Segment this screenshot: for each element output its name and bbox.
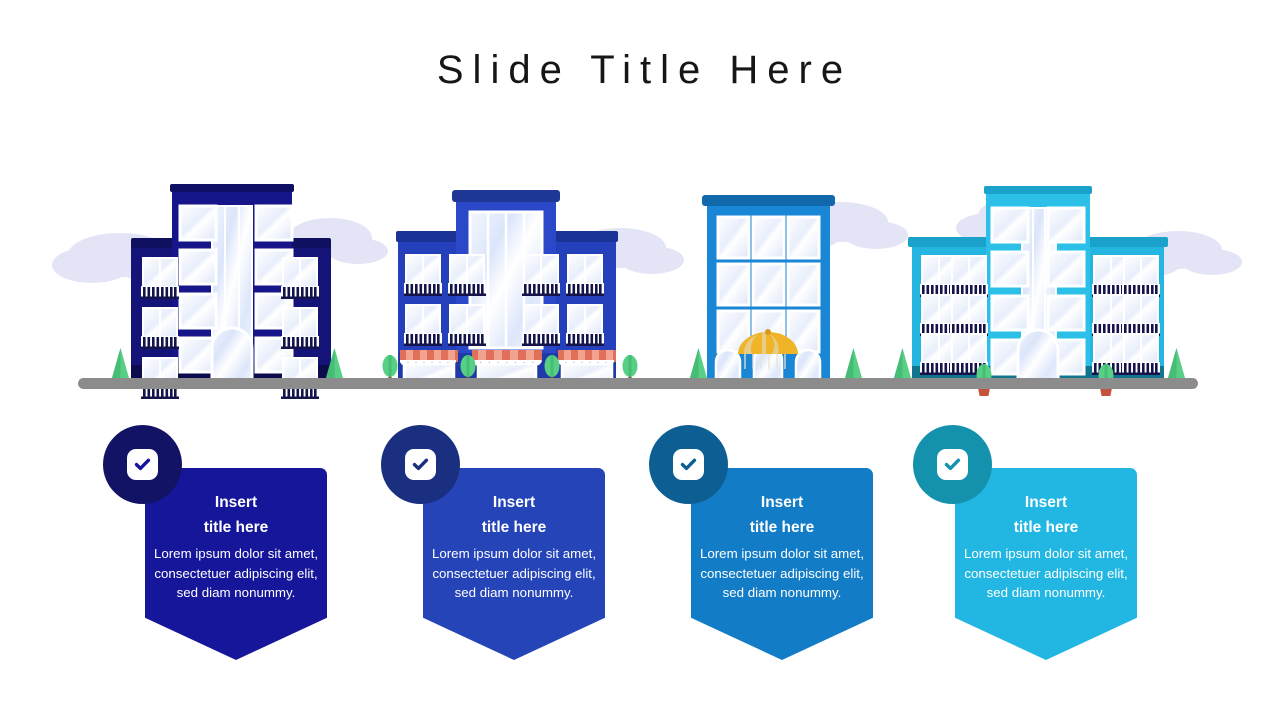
- page-title: Slide Title Here: [0, 46, 1280, 94]
- card-3-body: Lorem ipsum dolor sit amet, consectetuer…: [691, 544, 873, 603]
- card-1-body: Lorem ipsum dolor sit amet, consectetuer…: [145, 544, 327, 603]
- card-1-title: Insert title here: [145, 490, 327, 540]
- building-cyan: [894, 186, 1185, 396]
- check-circle-icon: [127, 449, 158, 480]
- card-4-badge[interactable]: [913, 425, 992, 504]
- building-royal-blue: [383, 190, 638, 387]
- card-3-badge[interactable]: [649, 425, 728, 504]
- card-1[interactable]: Insert title here Lorem ipsum dolor sit …: [98, 420, 366, 665]
- card-4-title: Insert title here: [955, 490, 1137, 540]
- city-illustration: [0, 150, 1280, 400]
- check-circle-icon: [937, 449, 968, 480]
- card-2[interactable]: Insert title here Lorem ipsum dolor sit …: [376, 420, 644, 665]
- check-circle-icon: [673, 449, 704, 480]
- card-2-title: Insert title here: [423, 490, 605, 540]
- card-4[interactable]: Insert title here Lorem ipsum dolor sit …: [908, 420, 1176, 665]
- card-2-badge[interactable]: [381, 425, 460, 504]
- cards-row: Insert title here Lorem ipsum dolor sit …: [0, 420, 1280, 670]
- building-navy: [112, 184, 343, 399]
- card-3[interactable]: Insert title here Lorem ipsum dolor sit …: [644, 420, 912, 665]
- ground-strip: [78, 378, 1198, 389]
- card-4-body: Lorem ipsum dolor sit amet, consectetuer…: [955, 544, 1137, 603]
- card-3-title: Insert title here: [691, 490, 873, 540]
- check-circle-icon: [405, 449, 436, 480]
- card-1-badge[interactable]: [103, 425, 182, 504]
- card-2-body: Lorem ipsum dolor sit amet, consectetuer…: [423, 544, 605, 603]
